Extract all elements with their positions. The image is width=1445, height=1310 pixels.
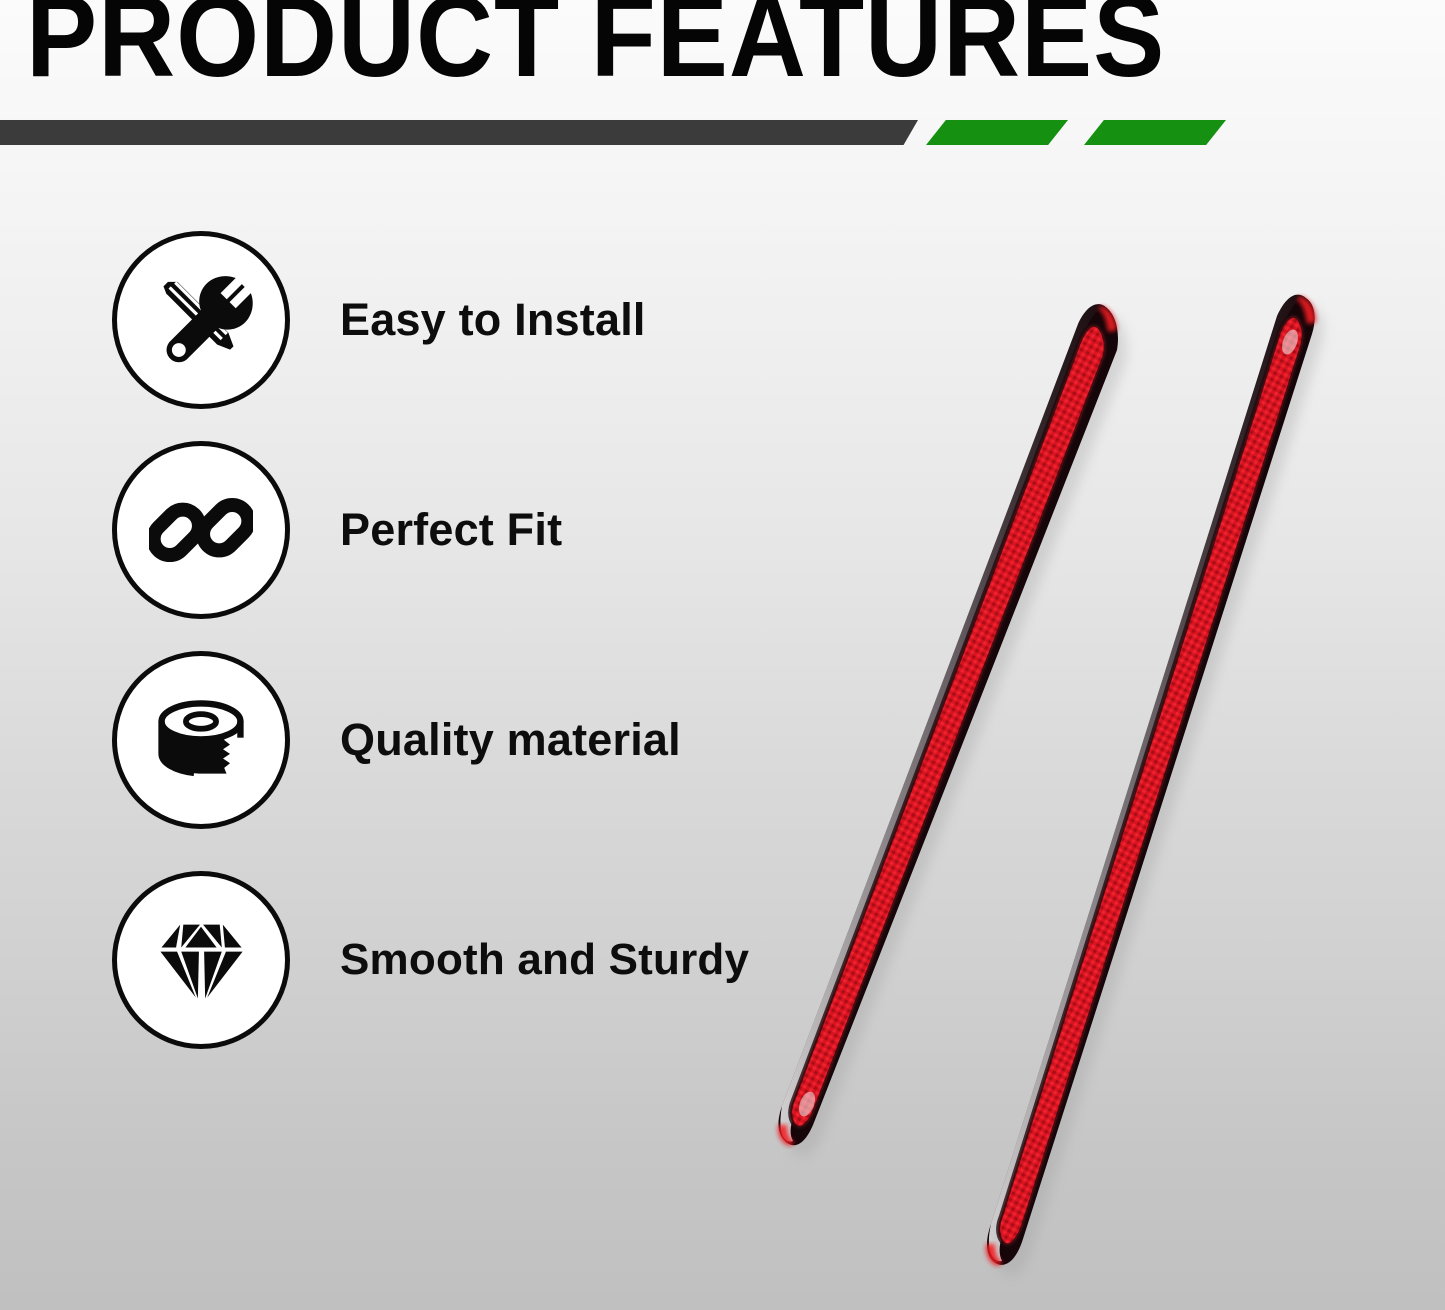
feature-icon-circle — [112, 441, 290, 619]
feature-list: Easy to Install Perfect Fit — [0, 0, 780, 1310]
chain-link-icon — [149, 478, 253, 582]
product-image — [760, 280, 1445, 1310]
feature-label: Quality material — [340, 651, 681, 829]
feature-icon-circle — [112, 231, 290, 409]
wrench-screwdriver-icon — [145, 264, 257, 376]
feature-icon-circle — [112, 871, 290, 1049]
feature-item-perfect-fit: Perfect Fit — [0, 441, 780, 623]
feature-label: Perfect Fit — [340, 441, 562, 619]
feature-label: Easy to Install — [340, 231, 646, 409]
product-features-infographic: PRODUCT FEATURES — [0, 0, 1445, 1310]
feature-label: Smooth and Sturdy — [340, 871, 749, 1049]
reflector-strips-graphic — [760, 280, 1445, 1310]
feature-item-quality-material: Quality material — [0, 651, 780, 833]
divider-dark-slant — [880, 120, 918, 145]
feature-item-easy-to-install: Easy to Install — [0, 231, 780, 413]
diamond-icon — [149, 908, 253, 1012]
divider-green-segment-1 — [926, 120, 1068, 145]
divider-green-segment-2 — [1084, 120, 1226, 145]
feature-item-smooth-and-sturdy: Smooth and Sturdy — [0, 871, 780, 1053]
tape-roll-icon — [143, 682, 259, 798]
feature-icon-circle — [112, 651, 290, 829]
